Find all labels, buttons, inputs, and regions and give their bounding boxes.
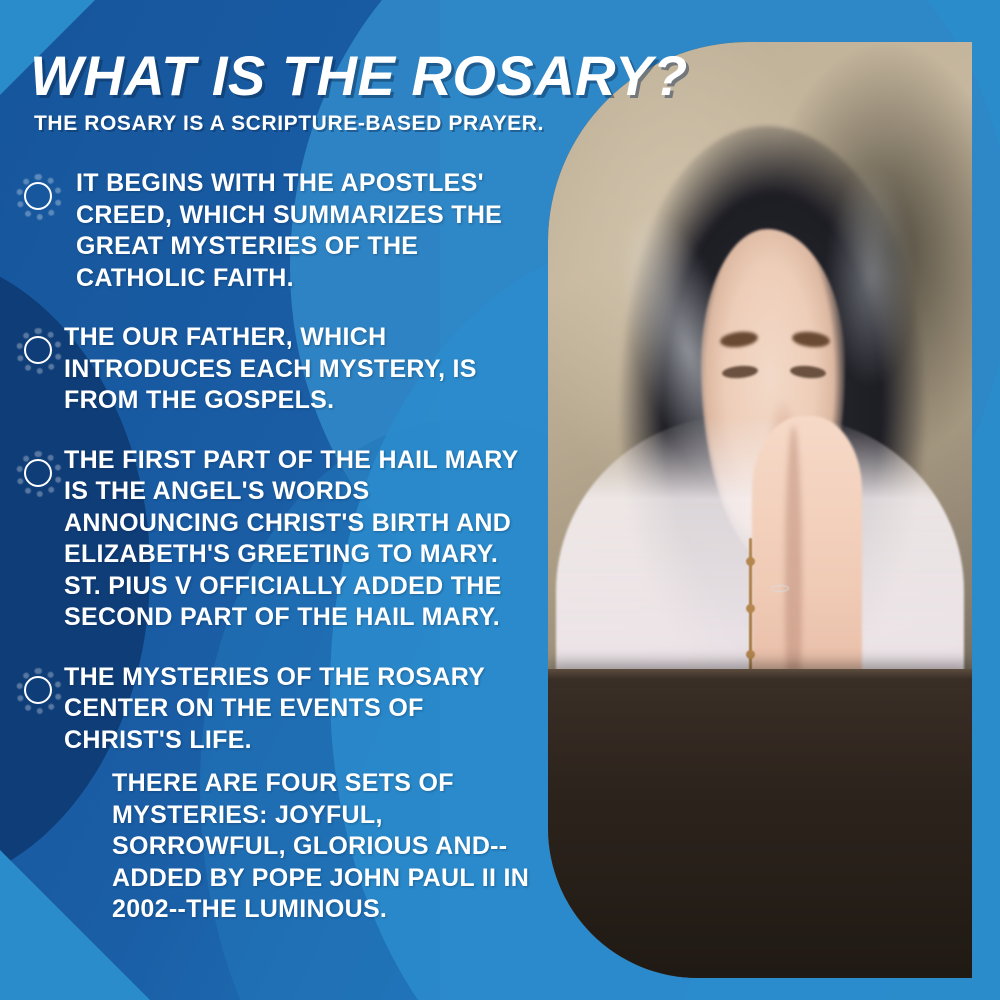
photo-rosary-bead — [746, 650, 755, 659]
circle-ring-bullet-icon — [16, 451, 62, 497]
bullet-ring — [24, 182, 52, 210]
list-item: IT BEGINS WITH THE APOSTLES' CREED, WHIC… — [0, 168, 560, 294]
sub-list-item-text: THERE ARE FOUR SETS OF MYSTERIES: JOYFUL… — [112, 768, 542, 926]
list-item: THE MYSTERIES OF THE ROSARY CENTER ON TH… — [0, 662, 560, 926]
rosary-infographic-poster: WHAT IS THE ROSARY? THE ROSARY IS A SCRI… — [0, 0, 1000, 1000]
list-item-text: THE FIRST PART OF THE HAIL MARY IS THE A… — [64, 445, 552, 634]
circle-ring-bullet-icon — [16, 668, 62, 714]
bullet-ring — [24, 676, 52, 704]
list-item: THE OUR FATHER, WHICH INTRODUCES EACH MY… — [0, 322, 560, 417]
photo-rosary-bead — [746, 604, 755, 613]
bullet-list: IT BEGINS WITH THE APOSTLES' CREED, WHIC… — [0, 168, 560, 954]
page-title: WHAT IS THE ROSARY? — [30, 43, 688, 108]
photo-foreground-table — [548, 669, 972, 978]
list-item-text: THE OUR FATHER, WHICH INTRODUCES EACH MY… — [64, 322, 552, 417]
list-item-text: IT BEGINS WITH THE APOSTLES' CREED, WHIC… — [76, 168, 556, 294]
circle-ring-bullet-icon — [16, 174, 62, 220]
list-item: THE FIRST PART OF THE HAIL MARY IS THE A… — [0, 445, 560, 634]
circle-ring-bullet-icon — [16, 328, 62, 374]
bullet-ring — [24, 459, 52, 487]
praying-woman-photo — [548, 42, 972, 978]
page-subtitle: THE ROSARY IS A SCRIPTURE-BASED PRAYER. — [34, 112, 544, 136]
list-item-text: THE MYSTERIES OF THE ROSARY CENTER ON TH… — [64, 662, 552, 757]
photo-rosary-bead — [746, 557, 755, 566]
bullet-ring — [24, 336, 52, 364]
photo-finger-ring — [771, 585, 789, 592]
